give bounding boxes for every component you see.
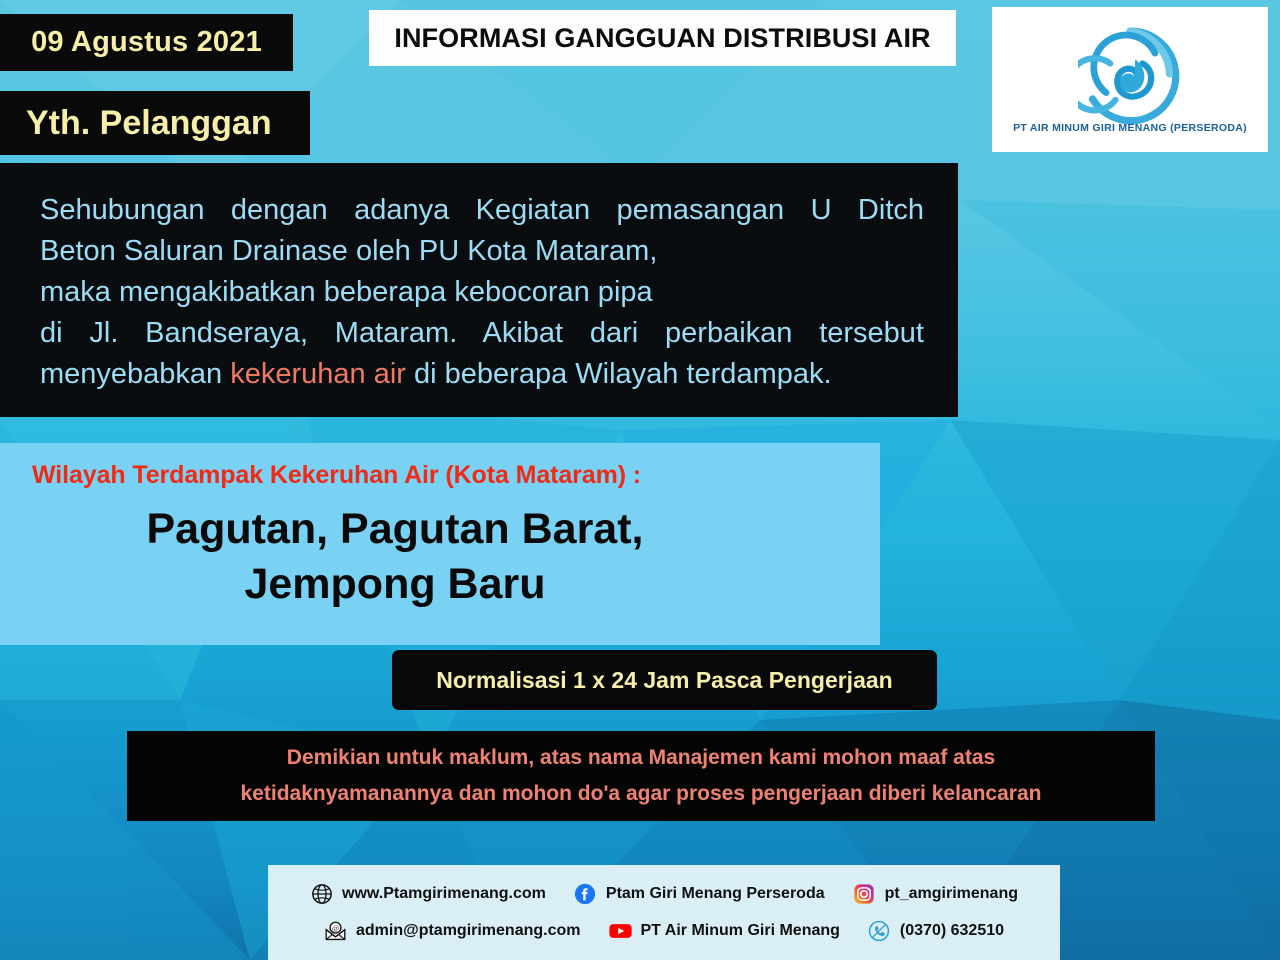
footer-row-1: www.Ptamgirimenang.com Ptam Giri Menang …	[268, 875, 1060, 912]
footer-row-2: @ admin@ptamgirimenang.com PT Air Minum …	[268, 912, 1060, 949]
footer-facebook[interactable]: Ptam Giri Menang Perseroda	[574, 882, 825, 905]
apology-notice: Demikian untuk maklum, atas nama Manajem…	[127, 731, 1155, 821]
globe-icon	[310, 882, 333, 905]
normalization-text: Normalisasi 1 x 24 Jam Pasca Pengerjaan	[436, 667, 892, 694]
footer-facebook-text: Ptam Giri Menang Perseroda	[606, 885, 825, 903]
affected-area-line-1: Pagutan, Pagutan Barat,	[0, 502, 790, 557]
date-text: 09 Agustus 2021	[31, 26, 262, 59]
footer-email[interactable]: @ admin@ptamgirimenang.com	[324, 919, 581, 942]
logo-caption: PT AIR MINUM GIRI MENANG (PERSERODA)	[1013, 122, 1247, 134]
footer-email-text: admin@ptamgirimenang.com	[356, 922, 581, 940]
body-line-3: maka mengakibatkan beberapa kebocoran pi…	[40, 272, 924, 313]
water-spiral-icon	[1078, 24, 1182, 128]
page-title: INFORMASI GANGGUAN DISTRIBUSI AIR	[394, 23, 930, 54]
footer-instagram-text: pt_amgirimenang	[885, 885, 1018, 903]
footer-youtube[interactable]: PT Air Minum Giri Menang	[609, 919, 840, 942]
footer-instagram[interactable]: pt_amgirimenang	[853, 882, 1018, 905]
apology-line-2: ketidaknyamanannya dan mohon do'a agar p…	[241, 776, 1042, 812]
body-highlight-kekeruhan-air: kekeruhan air	[230, 358, 406, 390]
body-line-5-after: di beberapa Wilayah terdampak.	[406, 358, 832, 390]
svg-text:@: @	[332, 923, 339, 932]
greeting-badge: Yth. Pelanggan	[0, 91, 310, 155]
date-badge: 09 Agustus 2021	[0, 14, 293, 71]
affected-areas-label: Wilayah Terdampak Kekeruhan Air (Kota Ma…	[0, 461, 880, 490]
footer-website-text: www.Ptamgirimenang.com	[342, 885, 546, 903]
affected-area-line-2: Jempong Baru	[0, 557, 790, 612]
poster-title-banner: INFORMASI GANGGUAN DISTRIBUSI AIR	[369, 10, 956, 66]
body-line-1: Sehubungan dengan adanya Kegiatan pemasa…	[40, 190, 924, 231]
announcement-body: Sehubungan dengan adanya Kegiatan pemasa…	[0, 163, 958, 417]
poster-canvas: 09 Agustus 2021 Yth. Pelanggan INFORMASI…	[0, 0, 1280, 960]
phone-icon	[868, 919, 891, 942]
apology-line-1: Demikian untuk maklum, atas nama Manajem…	[287, 740, 995, 776]
company-logo-card: PT AIR MINUM GIRI MENANG (PERSERODA)	[992, 7, 1268, 152]
instagram-icon	[853, 882, 876, 905]
footer-youtube-text: PT Air Minum Giri Menang	[641, 922, 840, 940]
greeting-text: Yth. Pelanggan	[26, 104, 272, 143]
footer-phone-text: (0370) 632510	[900, 922, 1004, 940]
affected-areas-panel: Wilayah Terdampak Kekeruhan Air (Kota Ma…	[0, 443, 880, 645]
body-line-2: Beton Saluran Drainase oleh PU Kota Mata…	[40, 231, 924, 272]
footer-phone[interactable]: (0370) 632510	[868, 919, 1004, 942]
body-line-5: menyebabkan kekeruhan air di beberapa Wi…	[40, 354, 924, 395]
body-line-4: di Jl. Bandseraya, Mataram. Akibat dari …	[40, 313, 924, 354]
normalization-notice: Normalisasi 1 x 24 Jam Pasca Pengerjaan	[392, 650, 937, 710]
youtube-icon	[609, 919, 632, 942]
facebook-icon	[574, 882, 597, 905]
footer-contact-panel: www.Ptamgirimenang.com Ptam Giri Menang …	[268, 865, 1060, 960]
footer-website[interactable]: www.Ptamgirimenang.com	[310, 882, 546, 905]
email-at-envelope-icon: @	[324, 919, 347, 942]
body-line-5-before: menyebabkan	[40, 358, 230, 390]
affected-areas-list: Pagutan, Pagutan Barat, Jempong Baru	[0, 502, 880, 612]
